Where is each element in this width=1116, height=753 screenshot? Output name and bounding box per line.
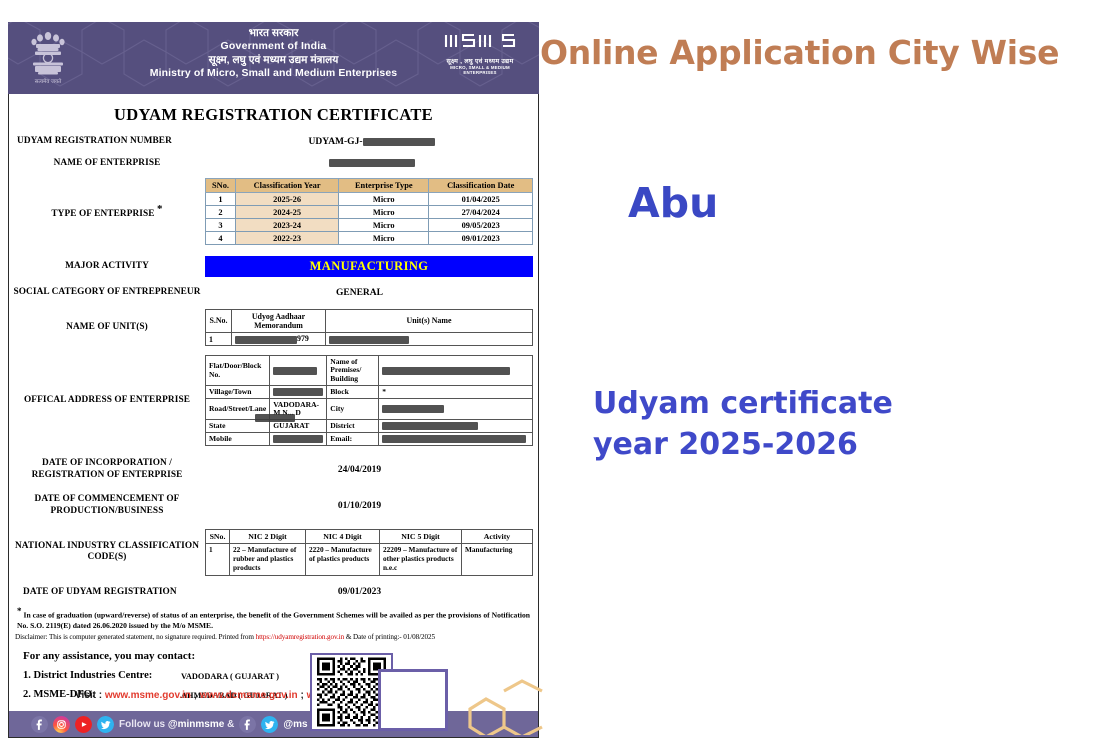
- major-activity-label: MAJOR ACTIVITY: [9, 261, 205, 273]
- twitter-icon[interactable]: [261, 716, 278, 733]
- col-nic2: NIC 2 Digit: [230, 530, 306, 544]
- msme-logo: सूक्ष्म , लघु एवं मध्यम उद्यम MICRO, SMA…: [433, 32, 527, 75]
- address-table: Flat/Door/Block No. Name of Premises/ Bu…: [205, 355, 533, 446]
- field-date-udyam-registration: DATE OF UDYAM REGISTRATION 09/01/2023: [9, 587, 538, 599]
- field-date-incorporation: DATE OF INCORPORATION / REGISTRATION OF …: [9, 458, 538, 481]
- field-date-commencement: DATE OF COMMENCEMENT OF PRODUCTION/BUSIN…: [9, 494, 538, 517]
- cell-type: Micro: [339, 206, 429, 219]
- cell-date: 01/04/2025: [429, 193, 533, 206]
- cell-value-village: [270, 386, 327, 399]
- redaction-bar: [382, 435, 526, 443]
- col-udyog-aadhaar: Udyog Aadhaar Memorandum: [232, 309, 326, 332]
- msme-wordmark-icon: [444, 32, 516, 49]
- redaction-bar: [273, 435, 323, 443]
- msme-logo-english: MICRO, SMALL & MEDIUM ENTERPRISES: [433, 65, 527, 75]
- cell-value-city: [379, 399, 533, 420]
- udyam-portal-link[interactable]: https://udyamregistration.gov.in: [256, 633, 345, 641]
- cell-udyog-tail: 979: [297, 334, 309, 343]
- major-activity-value: MANUFACTURING: [205, 256, 533, 277]
- cell-nic5: 22209 – Manufacture of other plastics pr…: [380, 544, 462, 575]
- instagram-icon[interactable]: [53, 716, 70, 733]
- redaction-bar: [382, 422, 478, 430]
- youtube-icon[interactable]: [75, 716, 92, 733]
- cell-year: 2022-23: [236, 232, 339, 245]
- cell-date: 27/04/2024: [429, 206, 533, 219]
- subheading-line-1: Udyam certificate: [593, 383, 893, 424]
- enterprise-name-value: [205, 158, 538, 168]
- col-classification-year: Classification Year: [236, 179, 339, 193]
- facebook-icon[interactable]: [31, 716, 48, 733]
- official-address-label: OFFICAL ADDRESS OF ENTERPRISE: [9, 395, 205, 407]
- col-nic5: NIC 5 Digit: [380, 530, 462, 544]
- redaction-bar: [255, 414, 295, 422]
- type-of-enterprise-label: TYPE OF ENTERPRISE *: [9, 203, 205, 221]
- redaction-bar: [382, 367, 510, 375]
- table-row: 1 22 – Manufacture of rubber and plastic…: [206, 544, 533, 575]
- cell-value-flat-no: [270, 356, 327, 386]
- follow-us-text: Follow us @minmsme &: [119, 719, 234, 730]
- field-udyam-number: UDYAM REGISTRATION NUMBER UDYAM-GJ-: [9, 136, 538, 148]
- table-row: Mobile Email:: [206, 433, 533, 446]
- cell-type: Micro: [339, 193, 429, 206]
- visit-prefix: Visit :: [75, 690, 105, 701]
- cell-nic4: 2220 – Manufacture of plastics products: [306, 544, 380, 575]
- redaction-bar: [363, 138, 435, 146]
- cell-key-flat-no: Flat/Door/Block No.: [206, 356, 270, 386]
- col-nic4: NIC 4 Digit: [306, 530, 380, 544]
- redaction-bar: [329, 336, 409, 344]
- ampersand: &: [224, 719, 234, 730]
- date-udyam-registration-label: DATE OF UDYAM REGISTRATION: [9, 587, 205, 599]
- disclaimer-prefix: Disclaimer: This is computer generated s…: [15, 633, 256, 641]
- cell-udyog-aadhaar: 979: [232, 332, 326, 345]
- cell-value-district: [379, 420, 533, 433]
- msme-logo-hindi: सूक्ष्म , लघु एवं मध्यम उद्यम: [433, 56, 527, 65]
- cell-key-mobile: Mobile: [206, 433, 270, 446]
- field-nic-codes: NATIONAL INDUSTRY CLASSIFICATION CODE(S)…: [9, 529, 538, 575]
- cell-unit-name: [326, 332, 533, 345]
- dic-label: 1. District Industries Centre:: [23, 670, 181, 681]
- cell-date: 09/01/2023: [429, 232, 533, 245]
- redaction-bar: [273, 388, 323, 396]
- follow-label: Follow us: [119, 719, 168, 730]
- table-row: 2 2024-25 Micro 27/04/2024: [206, 206, 533, 219]
- cell-key-premises: Name of Premises/ Building: [327, 356, 379, 386]
- field-major-activity: MAJOR ACTIVITY MANUFACTURING: [9, 256, 538, 277]
- field-official-address: OFFICAL ADDRESS OF ENTERPRISE Flat/Door/…: [9, 355, 538, 446]
- facebook-icon[interactable]: [239, 716, 256, 733]
- cell-nic2: 22 – Manufacture of rubber and plastics …: [230, 544, 306, 575]
- visit-sep-1: ;: [191, 690, 200, 701]
- cell-type: Micro: [339, 219, 429, 232]
- twitter-icon[interactable]: [97, 716, 114, 733]
- cell-key-email: Email:: [327, 433, 379, 446]
- col-unit-name: Unit(s) Name: [326, 309, 533, 332]
- redaction-bar: [329, 159, 415, 167]
- col-sno: SNo.: [206, 179, 236, 193]
- cell-value-mobile: [270, 433, 327, 446]
- disclaimer-line: Disclaimer: This is computer generated s…: [9, 631, 538, 641]
- field-name-of-units: NAME OF UNIT(S) S.No. Udyog Aadhaar Memo…: [9, 309, 538, 346]
- right-content-panel: Online Application City Wise Abu Udyam c…: [540, 0, 1116, 753]
- field-type-of-enterprise: TYPE OF ENTERPRISE * SNo. Classification…: [9, 178, 538, 245]
- cell-key-district: District: [327, 420, 379, 433]
- udyam-number-label: UDYAM REGISTRATION NUMBER: [9, 136, 205, 148]
- social-category-value: GENERAL: [205, 288, 538, 298]
- social-category-label: SOCIAL CATEGORY OF ENTREPRENEUR: [9, 287, 205, 299]
- subheading-line-2: year 2025-2026: [593, 424, 893, 465]
- enterprise-name-label: NAME OF ENTERPRISE: [9, 158, 205, 170]
- subheading-block: Udyam certificate year 2025-2026: [593, 383, 893, 466]
- col-enterprise-type: Enterprise Type: [339, 179, 429, 193]
- field-social-category: SOCIAL CATEGORY OF ENTREPRENEUR GENERAL: [9, 287, 538, 299]
- table-row: 4 2022-23 Micro 09/01/2023: [206, 232, 533, 245]
- footnote-text: In case of graduation (upward/reverse) o…: [17, 611, 530, 630]
- cell-value-road: VADODARA-M N... D: [270, 399, 327, 420]
- udyam-number-value: UDYAM-GJ-: [205, 137, 538, 147]
- cell-sno: 1: [206, 193, 236, 206]
- cell-key-city: City: [327, 399, 379, 420]
- hexagon-decoration-icon: [452, 657, 544, 735]
- nic-label: NATIONAL INDUSTRY CLASSIFICATION CODE(S): [9, 541, 205, 564]
- cell-year: 2025-26: [236, 193, 339, 206]
- table-row: Village/Town Block *: [206, 386, 533, 399]
- redaction-bar: [273, 367, 317, 375]
- cell-key-village: Village/Town: [206, 386, 270, 399]
- redaction-bar: [382, 405, 444, 413]
- cell-sno: 3: [206, 219, 236, 232]
- cell-activity: Manufacturing: [462, 544, 533, 575]
- nic-table: SNo. NIC 2 Digit NIC 4 Digit NIC 5 Digit…: [205, 529, 533, 575]
- cell-value-premises: [379, 356, 533, 386]
- date-incorporation-value: 24/04/2019: [205, 465, 538, 475]
- col-classification-date: Classification Date: [429, 179, 533, 193]
- cell-year: 2024-25: [236, 206, 339, 219]
- date-commencement-label: DATE OF COMMENCEMENT OF PRODUCTION/BUSIN…: [9, 494, 205, 517]
- col-activity: Activity: [462, 530, 533, 544]
- minmsme-handle[interactable]: @minmsme: [168, 719, 224, 730]
- cell-sno: 1: [206, 332, 232, 345]
- table-row: Flat/Door/Block No. Name of Premises/ Bu…: [206, 356, 533, 386]
- cell-sno: 2: [206, 206, 236, 219]
- cell-value-block: *: [379, 386, 533, 399]
- cell-type: Micro: [339, 232, 429, 245]
- cell-key-block: Block: [327, 386, 379, 399]
- date-commencement-value: 01/10/2019: [205, 501, 538, 511]
- type-of-enterprise-label-text: TYPE OF ENTERPRISE: [51, 209, 154, 219]
- table-row: Road/Street/Lane VADODARA-M N... D City: [206, 399, 533, 420]
- date-udyam-registration-value: 09/01/2023: [205, 587, 538, 597]
- date-incorporation-label: DATE OF INCORPORATION / REGISTRATION OF …: [9, 458, 205, 481]
- cell-sno: 4: [206, 232, 236, 245]
- udyam-number-prefix: UDYAM-GJ-: [308, 137, 362, 147]
- graduation-footnote: * In case of graduation (upward/reverse)…: [9, 602, 538, 631]
- certificate-banner: सत्यमेव जयते भारत सरकार Government of In…: [8, 22, 539, 94]
- col-sno: SNo.: [206, 530, 230, 544]
- msme-gov-link[interactable]: www.msme.gov.in: [105, 690, 191, 701]
- visit-sep-2: ;: [298, 690, 307, 701]
- udyam-certificate-image: सत्यमेव जयते भारत सरकार Government of In…: [8, 22, 539, 738]
- field-enterprise-name: NAME OF ENTERPRISE: [9, 158, 538, 170]
- city-name-heading: Abu: [628, 179, 718, 227]
- ms-handle[interactable]: @ms: [283, 719, 307, 730]
- dic-value: VADODARA ( GUJARAT ): [181, 670, 279, 681]
- cell-date: 09/05/2023: [429, 219, 533, 232]
- certificate-title: UDYAM REGISTRATION CERTIFICATE: [9, 94, 538, 134]
- dcmsme-gov-link[interactable]: www.dcmsme.gov.in: [200, 690, 298, 701]
- table-header-row: SNo. NIC 2 Digit NIC 4 Digit NIC 5 Digit…: [206, 530, 533, 544]
- classification-table: SNo. Classification Year Enterprise Type…: [205, 178, 533, 245]
- page-headline: Online Application City Wise: [540, 33, 1116, 72]
- footnote-asterisk: *: [17, 606, 22, 616]
- redaction-bar: [235, 336, 297, 344]
- table-row: 1 979: [206, 332, 533, 345]
- table-row: 1 2025-26 Micro 01/04/2025: [206, 193, 533, 206]
- table-row: 3 2023-24 Micro 09/05/2023: [206, 219, 533, 232]
- certificate-body: UDYAM REGISTRATION CERTIFICATE UDYAM REG…: [8, 94, 539, 738]
- col-sno: S.No.: [206, 309, 232, 332]
- cell-value-email: [379, 433, 533, 446]
- name-of-units-label: NAME OF UNIT(S): [9, 322, 205, 334]
- signature-placeholder-box: [378, 669, 448, 731]
- cell-year: 2023-24: [236, 219, 339, 232]
- table-header-row: S.No. Udyog Aadhaar Memorandum Unit(s) N…: [206, 309, 533, 332]
- disclaimer-suffix: & Date of printing:- 01/08/2025: [344, 633, 435, 641]
- cell-sno: 1: [206, 544, 230, 575]
- table-header-row: SNo. Classification Year Enterprise Type…: [206, 179, 533, 193]
- units-table: S.No. Udyog Aadhaar Memorandum Unit(s) N…: [205, 309, 533, 346]
